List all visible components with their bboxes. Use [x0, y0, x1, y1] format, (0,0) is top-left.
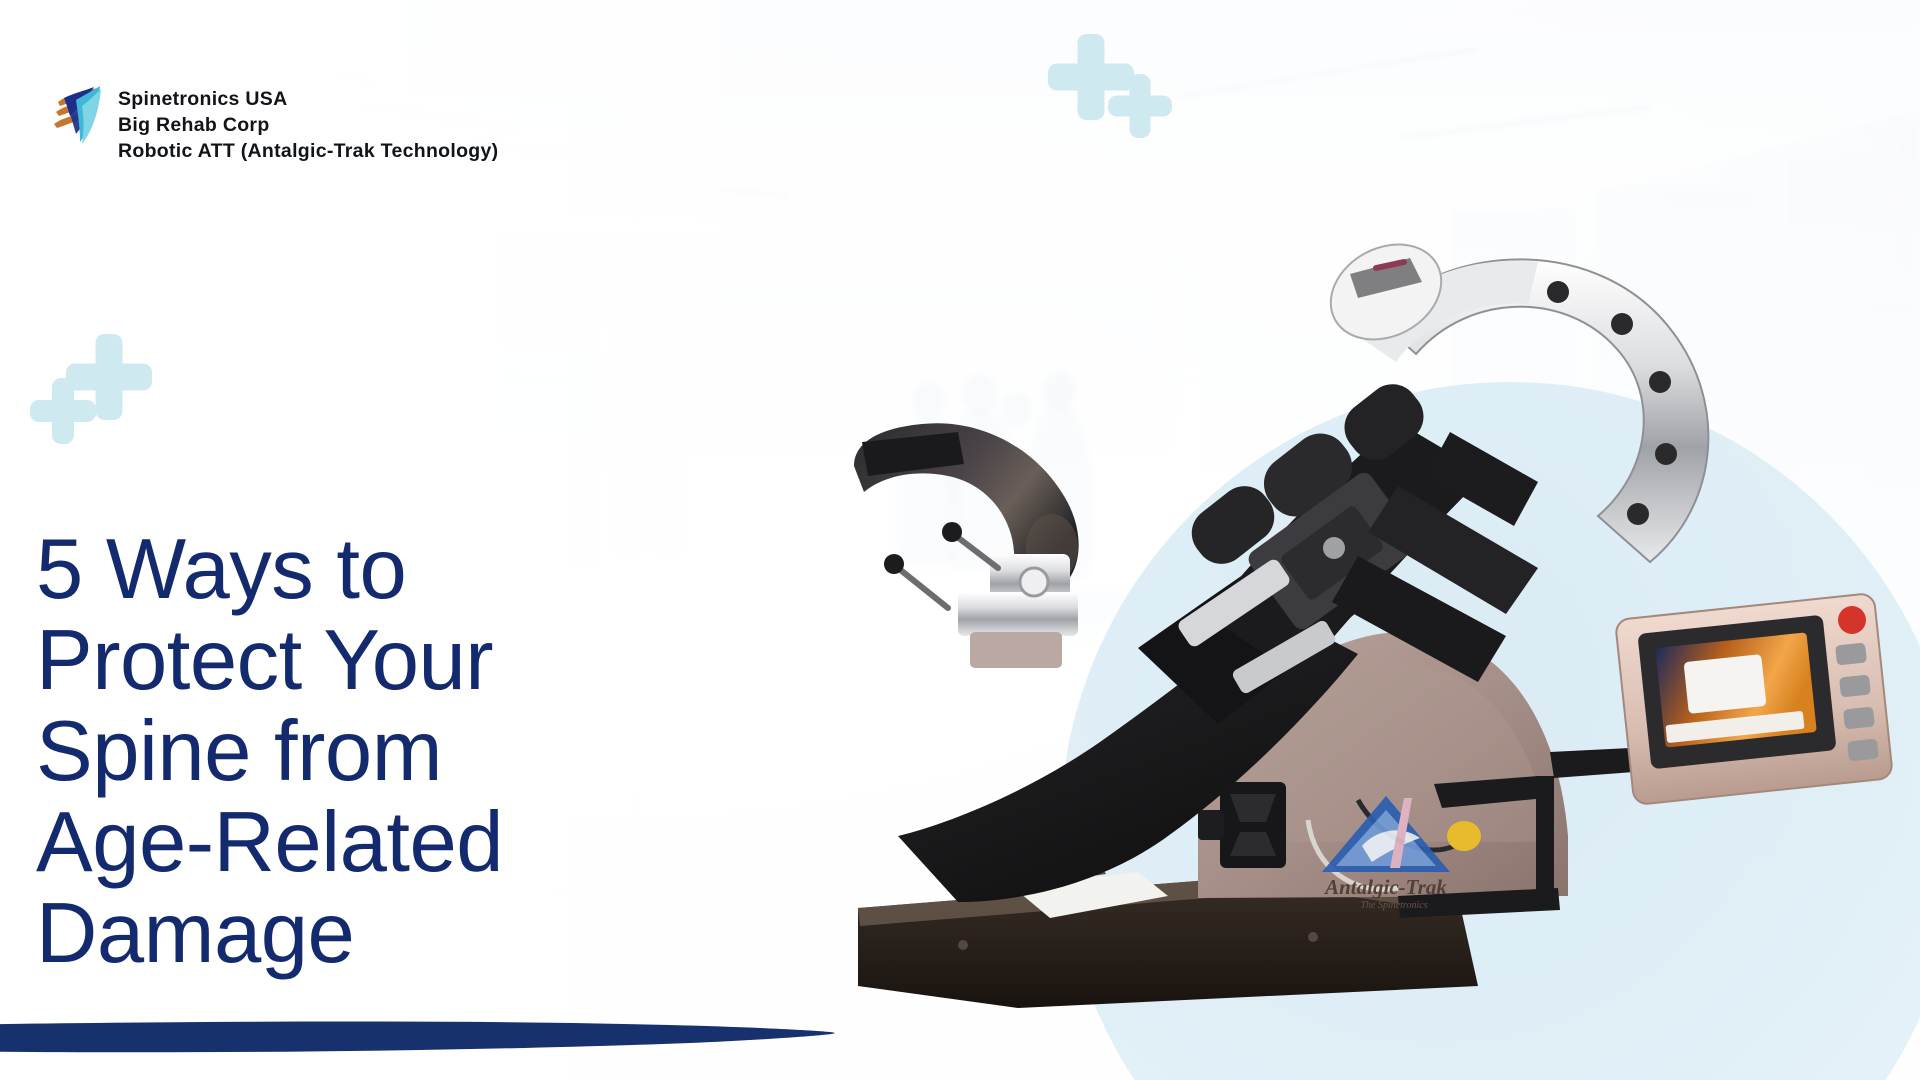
page-title: 5 Ways to Protect Your Spine from Age-Re… — [36, 525, 736, 980]
navy-swoosh-bar — [0, 1021, 835, 1055]
headline-line-1: 5 Ways to — [36, 525, 736, 616]
panel-button — [1835, 642, 1867, 665]
slide-canvas: Spinetronics USA Big Rehab Corp Robotic … — [0, 0, 1920, 1080]
antalgic-trak-machine-image: Antalgic-Trak The Spinetronics — [838, 196, 1898, 1008]
panel-button — [1847, 738, 1879, 761]
headline-line-4: Age-Related — [36, 798, 736, 889]
machine-illustration: Antalgic-Trak The Spinetronics — [838, 196, 1898, 1008]
svg-text:The Spinetronics: The Spinetronics — [1360, 900, 1427, 911]
brand-line-1: Spinetronics USA — [118, 86, 498, 112]
panel-button — [1839, 674, 1871, 697]
headline-line-2: Protect Your — [36, 616, 736, 707]
brand-line-2: Big Rehab Corp — [118, 112, 498, 138]
headline-line-5: Damage — [36, 889, 736, 980]
headline-line-3: Spine from — [36, 707, 736, 798]
svg-text:Antalgic-Trak: Antalgic-Trak — [1323, 875, 1447, 899]
brand-header: Spinetronics USA Big Rehab Corp Robotic … — [48, 84, 498, 164]
brand-text-block: Spinetronics USA Big Rehab Corp Robotic … — [118, 86, 498, 164]
yellow-knob — [1447, 821, 1481, 851]
panel-button — [1843, 706, 1875, 729]
plus-icon — [1108, 74, 1172, 138]
spine-swoosh-logo-icon — [48, 84, 102, 146]
plus-icon — [30, 378, 96, 444]
machine-control-panel — [1615, 593, 1893, 805]
brand-line-3: Robotic ATT (Antalgic-Trak Technology) — [118, 138, 498, 164]
